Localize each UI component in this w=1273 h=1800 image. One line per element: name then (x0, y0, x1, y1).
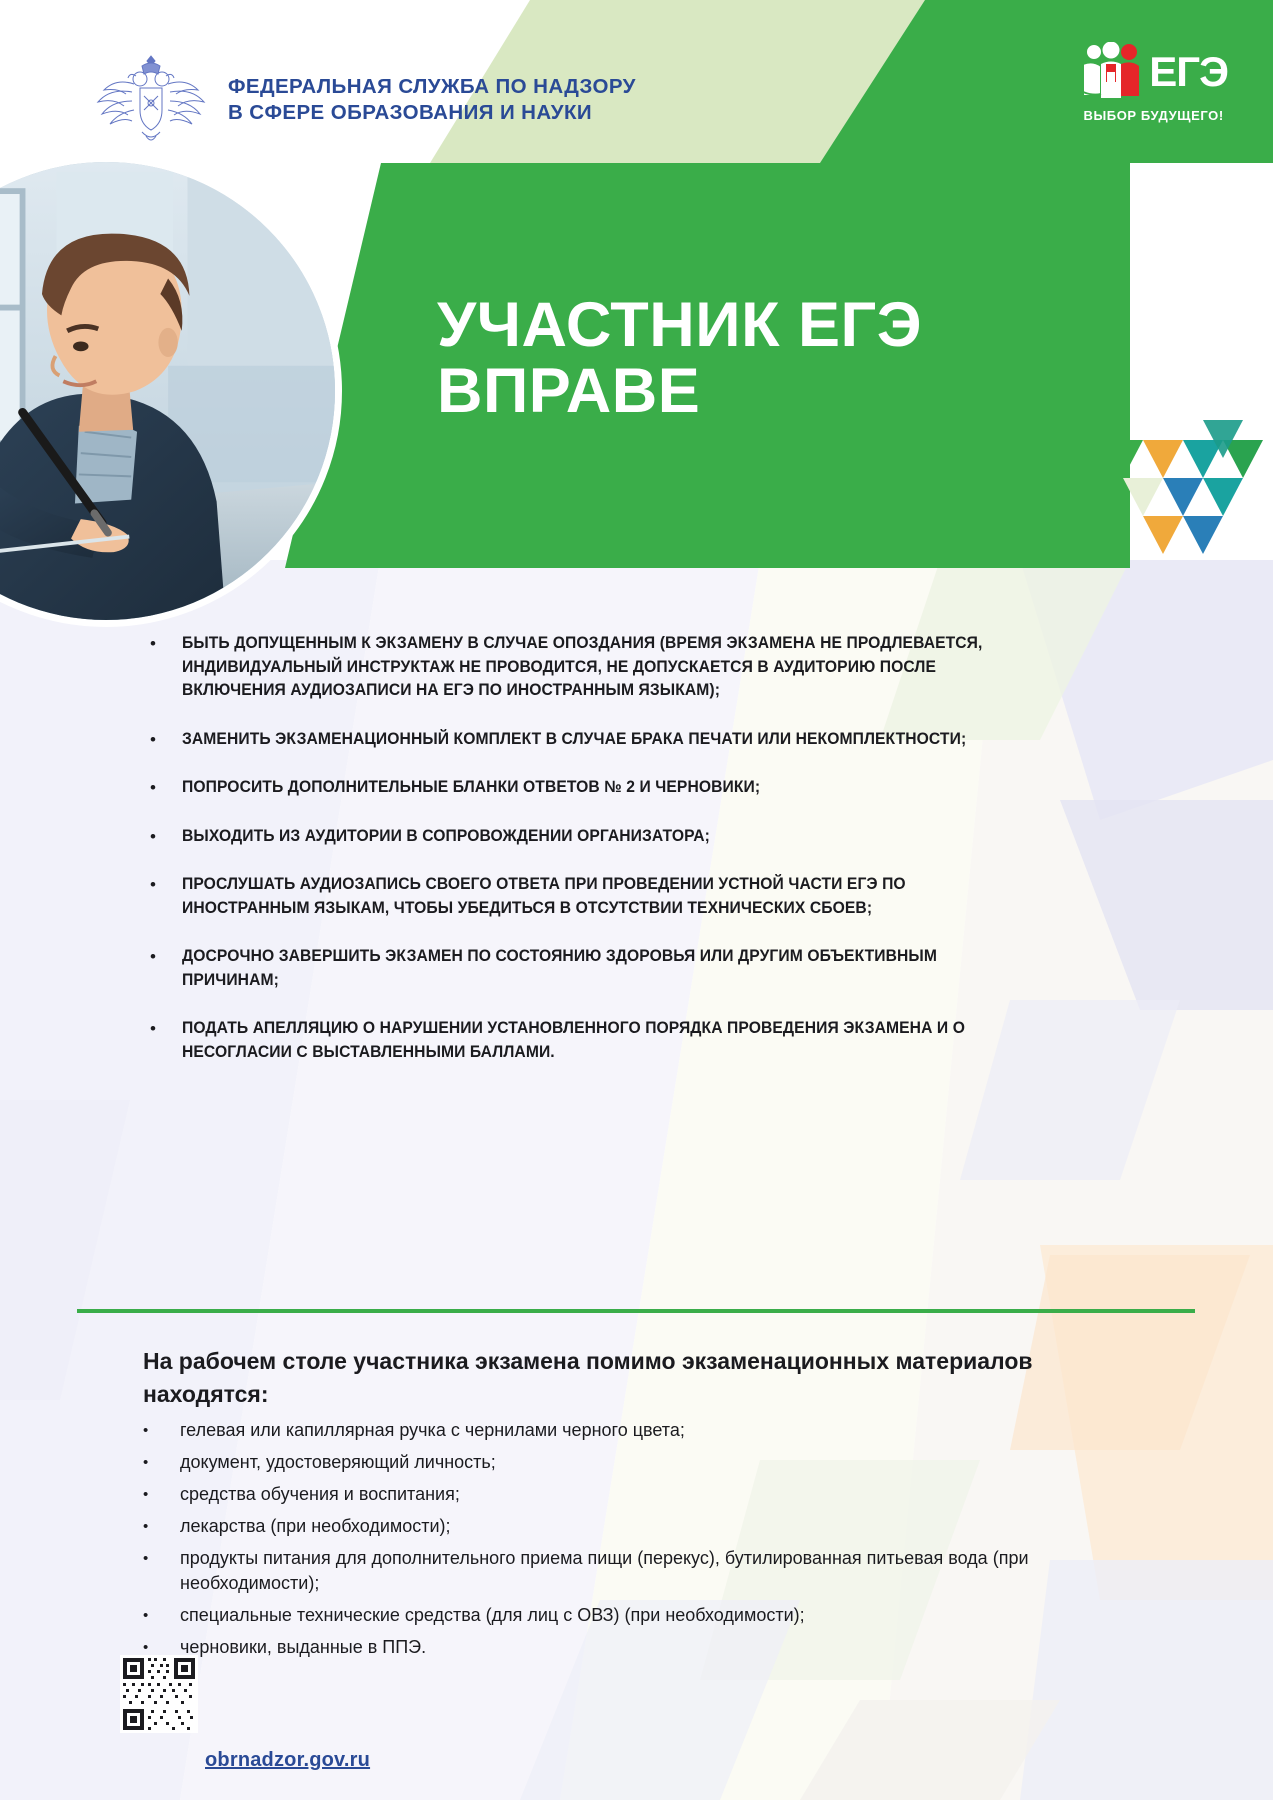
ege-logo: ЕГЭ ВЫБОР БУДУЩЕГО! (1079, 42, 1228, 123)
list-item-text: ПРОСЛУШАТЬ АУДИОЗАПИСЬ СВОЕГО ОТВЕТА ПРИ… (182, 873, 998, 920)
bullet-icon: • (146, 1017, 182, 1064)
list-item: • ВЫХОДИТЬ ИЗ АУДИТОРИИ В СОПРОВОЖДЕНИИ … (146, 825, 1036, 849)
desk-section-heading: На рабочем столе участника экзамена поми… (143, 1345, 1043, 1411)
list-item: • черновики, выданные в ППЭ. (143, 1635, 1043, 1660)
page-title-line1: УЧАСТНИК ЕГЭ (437, 292, 922, 358)
list-item-text: специальные технические средства (для ли… (180, 1603, 805, 1628)
agency-name-line1: ФЕДЕРАЛЬНАЯ СЛУЖБА ПО НАДЗОРУ (228, 74, 636, 100)
website-url-link[interactable]: obrnadzor.gov.ru (205, 1749, 370, 1772)
bullet-icon: • (146, 776, 182, 800)
page-title-line2: ВПРАВЕ (437, 358, 922, 424)
ege-tagline: ВЫБОР БУДУЩЕГО! (1083, 108, 1223, 123)
bullet-icon: • (146, 945, 182, 992)
confetti-triangles (1093, 400, 1273, 590)
list-item: • ПОДАТЬ АПЕЛЛЯЦИЮ О НАРУШЕНИИ УСТАНОВЛЕ… (146, 1017, 1036, 1064)
list-item-text: БЫТЬ ДОПУЩЕННЫМ К ЭКЗАМЕНУ В СЛУЧАЕ ОПОЗ… (182, 632, 998, 703)
agency-name: ФЕДЕРАЛЬНАЯ СЛУЖБА ПО НАДЗОРУ В СФЕРЕ ОБ… (228, 74, 636, 126)
bullet-icon: • (143, 1450, 180, 1475)
bullet-icon: • (143, 1418, 180, 1443)
list-item: • ПРОСЛУШАТЬ АУДИОЗАПИСЬ СВОЕГО ОТВЕТА П… (146, 873, 1036, 920)
list-item: • ПОПРОСИТЬ ДОПОЛНИТЕЛЬНЫЕ БЛАНКИ ОТВЕТО… (146, 776, 1036, 800)
list-item-text: ПОДАТЬ АПЕЛЛЯЦИЮ О НАРУШЕНИИ УСТАНОВЛЕНН… (182, 1017, 998, 1064)
bullet-icon: • (143, 1546, 180, 1596)
list-item: • ЗАМЕНИТЬ ЭКЗАМЕНАЦИОННЫЙ КОМПЛЕКТ В СЛ… (146, 728, 1036, 752)
page-title: УЧАСТНИК ЕГЭ ВПРАВЕ (437, 292, 922, 424)
list-item-text: ВЫХОДИТЬ ИЗ АУДИТОРИИ В СОПРОВОЖДЕНИИ ОР… (182, 825, 710, 849)
bullet-icon: • (143, 1514, 180, 1539)
list-item-text: черновики, выданные в ППЭ. (180, 1635, 426, 1660)
ege-three-figures-icon (1079, 42, 1143, 102)
bullet-icon: • (146, 873, 182, 920)
list-item-text: средства обучения и воспитания; (180, 1482, 460, 1507)
bullet-icon: • (146, 825, 182, 849)
list-item: • гелевая или капиллярная ручка с чернил… (143, 1418, 1043, 1443)
bullet-icon: • (146, 632, 182, 703)
rights-list: • БЫТЬ ДОПУЩЕННЫМ К ЭКЗАМЕНУ В СЛУЧАЕ ОП… (146, 632, 1036, 1064)
list-item: • лекарства (при необходимости); (143, 1514, 1043, 1539)
list-item-text: ЗАМЕНИТЬ ЭКЗАМЕНАЦИОННЫЙ КОМПЛЕКТ В СЛУЧ… (182, 728, 966, 752)
double-headed-eagle-emblem-icon (92, 50, 210, 150)
list-item: • продукты питания для дополнительного п… (143, 1546, 1043, 1596)
ege-wordmark: ЕГЭ (1149, 51, 1228, 93)
list-item: • ДОСРОЧНО ЗАВЕРШИТЬ ЭКЗАМЕН ПО СОСТОЯНИ… (146, 945, 1036, 992)
bullet-icon: • (143, 1603, 180, 1628)
list-item-text: лекарства (при необходимости); (180, 1514, 451, 1539)
bullet-icon: • (146, 728, 182, 752)
list-item: • средства обучения и воспитания; (143, 1482, 1043, 1507)
list-item: • документ, удостоверяющий личность; (143, 1450, 1043, 1475)
list-item-text: гелевая или капиллярная ручка с чернилам… (180, 1418, 685, 1443)
poster-root: ФЕДЕРАЛЬНАЯ СЛУЖБА ПО НАДЗОРУ В СФЕРЕ ОБ… (0, 0, 1273, 1800)
list-item-text: ДОСРОЧНО ЗАВЕРШИТЬ ЭКЗАМЕН ПО СОСТОЯНИЮ … (182, 945, 998, 992)
list-item: • БЫТЬ ДОПУЩЕННЫМ К ЭКЗАМЕНУ В СЛУЧАЕ ОП… (146, 632, 1036, 703)
list-item-text: ПОПРОСИТЬ ДОПОЛНИТЕЛЬНЫЕ БЛАНКИ ОТВЕТОВ … (182, 776, 760, 800)
desk-items-list: • гелевая или капиллярная ручка с чернил… (143, 1418, 1043, 1667)
section-divider (77, 1309, 1195, 1313)
bullet-icon: • (143, 1482, 180, 1507)
list-item: • специальные технические средства (для … (143, 1603, 1043, 1628)
list-item-text: документ, удостоверяющий личность; (180, 1450, 496, 1475)
list-item-text: продукты питания для дополнительного при… (180, 1546, 1043, 1596)
qr-code-icon[interactable] (120, 1655, 198, 1733)
agency-name-line2: В СФЕРЕ ОБРАЗОВАНИЯ И НАУКИ (228, 100, 636, 126)
